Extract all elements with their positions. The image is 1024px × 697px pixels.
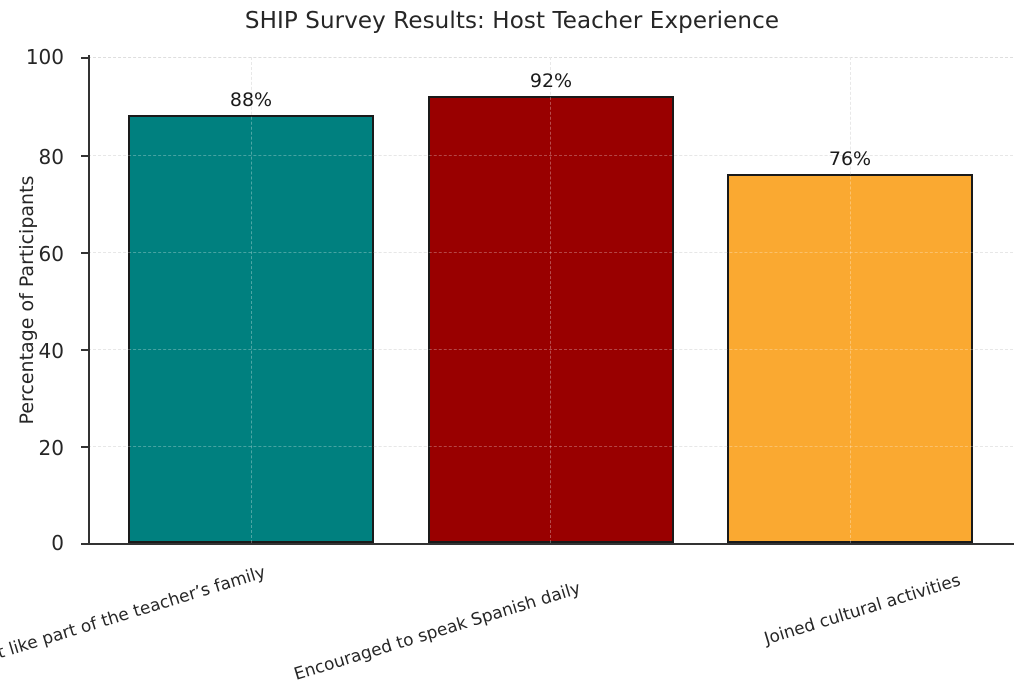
- y-tick-label-20: 20: [0, 438, 64, 458]
- bar-chart-figure: SHIP Survey Results: Host Teacher Experi…: [0, 0, 1024, 635]
- y-tick-label-0: 0: [0, 533, 64, 553]
- x-tick-label-cat-2: Encouraged to speak Spanish daily: [252, 578, 583, 697]
- bar-value-label-3: 76%: [727, 150, 973, 169]
- gridline-v-overlay-cat-3: [850, 57, 851, 543]
- y-tick-label-80: 80: [0, 147, 64, 167]
- gridline-v-overlay-cat-2: [550, 57, 551, 543]
- bar-value-label-2: 92%: [428, 72, 674, 91]
- bar-encouraged-to-speak-spanish[interactable]: [428, 96, 674, 543]
- x-tick-label-cat-3: Joined cultural activities: [632, 570, 963, 689]
- y-tick-label-100: 100: [0, 47, 64, 67]
- y-tick-label-40: 40: [0, 341, 64, 361]
- y-tick-mark-100: [81, 57, 88, 59]
- y-axis-spine: [88, 55, 90, 545]
- y-tick-mark-0: [81, 543, 88, 545]
- y-tick-mark-40: [81, 349, 88, 351]
- plot-area: 88% 92% 76%: [88, 57, 1013, 543]
- y-axis-label: Percentage of Participants: [14, 57, 40, 543]
- y-tick-mark-60: [81, 252, 88, 254]
- x-tick-label-cat-1: Felt like part of the teacher’s family: [0, 562, 268, 681]
- y-tick-label-60: 60: [0, 244, 64, 264]
- gridline-v-overlay-cat-1: [251, 57, 252, 543]
- y-tick-mark-20: [81, 446, 88, 448]
- y-tick-mark-80: [81, 155, 88, 157]
- x-axis-spine: [88, 543, 1014, 545]
- chart-title: SHIP Survey Results: Host Teacher Experi…: [0, 8, 1024, 34]
- bar-value-label-1: 88%: [128, 91, 374, 110]
